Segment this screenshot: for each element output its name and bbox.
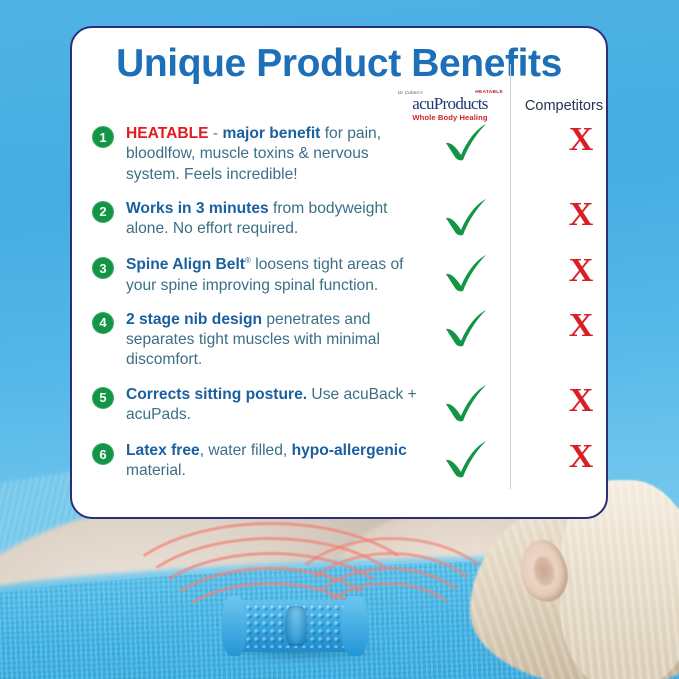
benefit-text: HEATABLE - major benefit for pain, blood… (126, 124, 426, 185)
benefit-text-segment: Corrects sitting posture. (126, 386, 307, 403)
benefit-text-segment: material. (126, 462, 186, 479)
cross-icon: X (558, 435, 604, 479)
column-headers: Dr Cohen's HEATABLE acuProducts Whole Bo… (72, 90, 608, 124)
roller-end-left (221, 596, 247, 656)
roller-waist (285, 606, 307, 646)
benefit-text-segment: - (209, 125, 223, 142)
check-icon (440, 195, 492, 239)
benefits-card: Unique Product Benefits Dr Cohen's HEATA… (70, 26, 608, 519)
cross-icon: X (558, 193, 604, 237)
benefit-text: Corrects sitting posture. Use acuBack + … (126, 385, 426, 426)
benefit-text-segment: , water filled, (200, 442, 292, 459)
benefit-text-segment: major benefit (222, 125, 320, 142)
competitors-header: Competitors (518, 98, 608, 114)
benefit-row: 1HEATABLE - major benefit for pain, bloo… (72, 124, 608, 185)
benefit-text-segment: Works in 3 minutes (126, 200, 269, 217)
cross-icon: X (558, 118, 604, 162)
cross-icon: X (558, 379, 604, 423)
benefit-text-segment: HEATABLE (126, 125, 209, 142)
page-title: Unique Product Benefits (72, 44, 606, 85)
product-roller (225, 596, 365, 654)
check-icon (440, 120, 492, 164)
benefit-number-badge: 2 (92, 201, 114, 223)
benefit-text-segment: hypo-allergenic (292, 442, 407, 459)
logo-name: acuProducts (396, 95, 504, 112)
benefit-text-segment: Latex free (126, 442, 200, 459)
benefit-row: 3Spine Align Belt® loosens tight areas o… (72, 255, 608, 296)
infographic-stage: Unique Product Benefits Dr Cohen's HEATA… (0, 0, 679, 679)
benefit-text-segment: Spine Align Belt (126, 256, 245, 273)
benefit-text: Spine Align Belt® loosens tight areas of… (126, 255, 426, 296)
logo-name-acu: acu (412, 94, 434, 113)
benefit-row: 2Works in 3 minutes from bodyweight alon… (72, 199, 608, 240)
benefits-list: 1HEATABLE - major benefit for pain, bloo… (72, 124, 608, 482)
cross-icon: X (558, 249, 604, 293)
benefit-row: 5Corrects sitting posture. Use acuBack +… (72, 385, 608, 426)
acuproducts-logo: Dr Cohen's HEATABLE acuProducts Whole Bo… (396, 90, 504, 124)
roller-end-right (341, 596, 369, 656)
benefit-row: 6Latex free, water filled, hypo-allergen… (72, 441, 608, 482)
check-icon (440, 306, 492, 350)
benefit-text: Latex free, water filled, hypo-allergeni… (126, 441, 426, 482)
benefit-text: 2 stage nib design penetrates and separa… (126, 310, 426, 371)
benefit-row: 42 stage nib design penetrates and separ… (72, 310, 608, 371)
benefit-number-badge: 1 (92, 126, 114, 148)
logo-name-products: Products (434, 94, 488, 113)
benefit-number-badge: 4 (92, 312, 114, 334)
check-icon (440, 381, 492, 425)
check-icon (440, 251, 492, 295)
cross-icon: X (558, 304, 604, 348)
check-icon (440, 437, 492, 481)
benefit-number-badge: 6 (92, 443, 114, 465)
benefit-number-badge: 5 (92, 387, 114, 409)
benefit-text-segment: 2 stage nib design (126, 311, 262, 328)
benefit-number-badge: 3 (92, 257, 114, 279)
benefit-text: Works in 3 minutes from bodyweight alone… (126, 199, 426, 240)
